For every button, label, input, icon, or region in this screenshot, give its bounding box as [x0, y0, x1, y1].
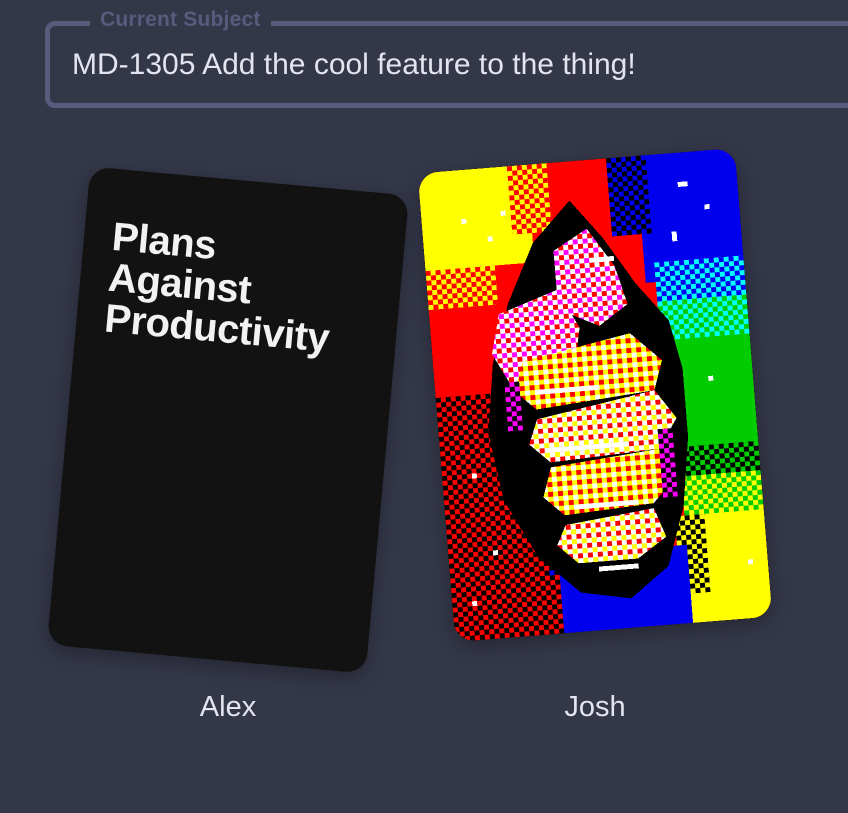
card-slot-josh[interactable]: Josh — [405, 150, 785, 750]
text-card-alex[interactable]: Plans Against Productivity — [47, 166, 409, 673]
player-name-josh: Josh — [405, 690, 785, 725]
pixel-art-dithered-fist-icon — [418, 148, 773, 642]
submitted-cards-row: Plans Against Productivity Alex — [0, 150, 848, 770]
current-subject-panel: Current Subject MD-1305 Add the cool fea… — [45, 21, 848, 108]
current-subject-legend: Current Subject — [90, 9, 271, 30]
card-slot-alex[interactable]: Plans Against Productivity Alex — [38, 150, 418, 750]
image-card-josh[interactable] — [418, 148, 773, 642]
text-card-body: Plans Against Productivity — [103, 217, 387, 365]
player-name-alex: Alex — [38, 690, 418, 725]
current-subject-text: MD-1305 Add the cool feature to the thin… — [72, 48, 636, 81]
